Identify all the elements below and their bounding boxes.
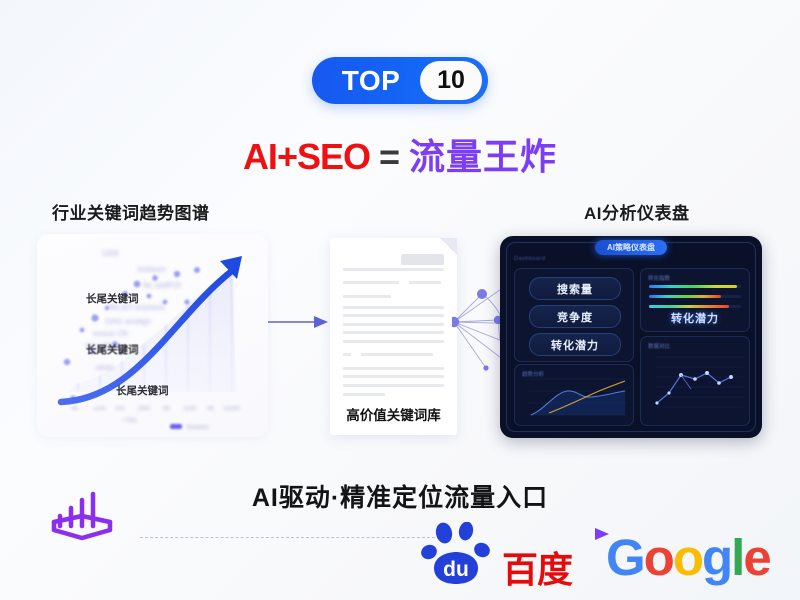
svg-text:1844: 1844 <box>137 406 151 412</box>
title-ai-seo: AI+SEO <box>243 136 370 177</box>
google-letter-l: l <box>731 529 743 586</box>
svg-text:r 03u: r 03u <box>123 418 137 424</box>
title-traffic: 流量王炸 <box>409 136 557 177</box>
dashboard-title-badge: AI策略仪表盘 <box>595 240 667 255</box>
infographic-canvas: TOP 10 AI+SEO=流量王炸 行业关键词趋势图谱 AI分析仪表盘 <box>0 0 800 600</box>
trend-chart-svg: VoldoonNc siidPOt Mu,kO snonioniOAG anot… <box>37 234 268 437</box>
document-highlight-block <box>401 254 444 265</box>
keyword-label-2: 长尾关键词 <box>86 342 139 357</box>
svg-text:1108: 1108 <box>183 406 197 412</box>
document-fold-corner <box>440 238 457 255</box>
svg-text:Nc siidPOt: Nc siidPOt <box>143 281 182 290</box>
svg-text:48: 48 <box>207 406 214 412</box>
data-comparison-panel: 数据对比 <box>640 336 750 426</box>
svg-text:1200: 1200 <box>101 249 119 258</box>
title-equals: = <box>379 136 400 177</box>
gauge-track-2 <box>649 295 741 298</box>
svg-text:OAG anotign: OAG anotign <box>105 317 151 326</box>
play-arrow-icon <box>592 526 612 542</box>
google-wordmark: Google <box>606 528 770 587</box>
gauge-fill-3 <box>649 305 729 308</box>
svg-text:46: 46 <box>71 406 78 412</box>
svg-text:euouo Oh: euouo Oh <box>93 329 128 338</box>
bottom-dashed-divider <box>140 537 440 538</box>
gauge-fill-2 <box>649 295 721 298</box>
bottom-headline: AI驱动·精准定位流量入口 <box>0 478 800 514</box>
keyword-label-3: 长尾关键词 <box>116 383 169 398</box>
svg-text:031: 031 <box>115 406 126 412</box>
document-caption: 高价值关键词库 <box>330 404 457 424</box>
comparison-panel-title: 数据对比 <box>648 342 670 350</box>
keyword-trend-chart-card: VoldoonNc siidPOt Mu,kO snonioniOAG anot… <box>37 234 268 437</box>
search-engine-logos: du 百度 Google <box>420 522 760 590</box>
gauge-track-3 <box>649 305 741 308</box>
gauge-caption: 转化潜力 <box>641 310 749 326</box>
baidu-chinese-wordmark: 百度 <box>502 541 572 593</box>
ai-dashboard-panel: AI策略仪表盘 Dashboard 搜索量 竞争度 转化潜力 趋势分析 转化指数 <box>500 236 762 438</box>
svg-text:46: 46 <box>163 406 170 412</box>
gauge-fill-1 <box>649 285 737 288</box>
svg-text:Voldoon: Voldoon <box>137 265 166 274</box>
trend-area-chart-panel: 趋势分析 <box>514 364 634 426</box>
top-rank-badge: TOP 10 <box>312 57 488 104</box>
top-badge-number: 10 <box>420 61 482 100</box>
metric-pill-conversion[interactable]: 转化潜力 <box>529 333 621 356</box>
svg-text:1145: 1145 <box>93 406 107 412</box>
page-title: AI+SEO=流量王炸 <box>0 128 800 180</box>
flow-arrow-icon <box>268 312 330 332</box>
svg-text:thickens: thickens <box>187 425 209 431</box>
top-badge-label: TOP <box>312 65 420 97</box>
metric-pill-competition[interactable]: 竞争度 <box>529 305 621 328</box>
gauge-track-1 <box>649 285 741 288</box>
svg-text:oliotn: oliotn <box>95 363 114 372</box>
baidu-paw-icon: du <box>420 522 500 588</box>
gauge-panel-title: 转化指数 <box>648 274 670 282</box>
google-letter-e: e <box>743 529 769 586</box>
metric-pill-search-volume[interactable]: 搜索量 <box>529 277 621 300</box>
dashboard-corner-label: Dashboard <box>514 256 545 262</box>
section-label-left: 行业关键词趋势图谱 <box>52 199 210 224</box>
keyword-library-document: 高价值关键词库 <box>330 238 457 435</box>
section-label-right: AI分析仪表盘 <box>584 199 690 224</box>
metric-pill-panel: 搜索量 竞争度 转化潜力 <box>514 268 634 362</box>
keyword-label-1: 长尾关键词 <box>86 291 139 306</box>
line-chart-svg <box>641 337 749 425</box>
google-letter-o1: o <box>644 529 673 586</box>
conversion-gauge-panel: 转化指数 转化潜力 <box>640 268 750 332</box>
bar-chart-pedestal-icon <box>46 486 118 544</box>
google-letter-g2: g <box>702 529 731 586</box>
document-text-lines <box>343 268 444 401</box>
svg-text:10240: 10240 <box>223 406 240 412</box>
google-letter-o2: o <box>673 529 702 586</box>
trend-area-chart-title: 趋势分析 <box>522 370 544 378</box>
baidu-mark-text: du <box>443 558 469 581</box>
